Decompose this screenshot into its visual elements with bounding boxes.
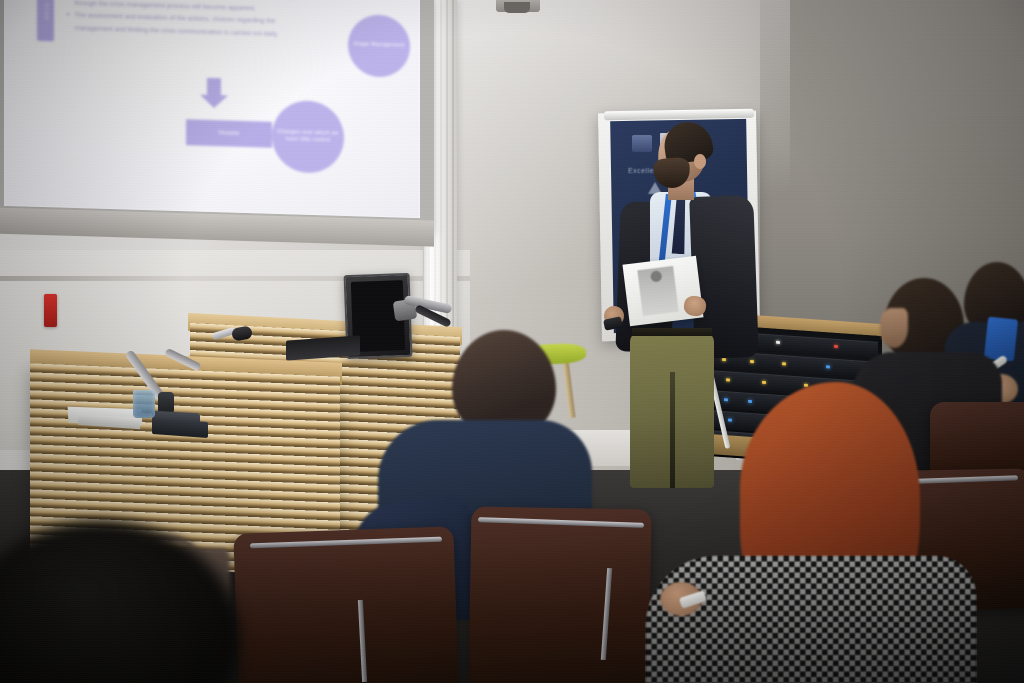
water-glass-icon [133,390,155,418]
projection-screen-surface: RISK • During this phase, the ability to… [4,0,420,218]
presenter-belt [632,328,712,336]
ceiling-spotlight-icon [496,0,540,12]
presenter-ear [694,154,706,169]
projected-slide: RISK • During this phase, the ability to… [4,0,420,218]
fire-alarm-icon [44,294,57,327]
presentation-room-photo: RISK • During this phase, the ability to… [0,0,1024,683]
handout-figure [637,266,678,316]
chair [233,526,458,683]
slide-bullet-text: management and limiting the crisis commu… [74,23,278,39]
projection-screen-frame: RISK • During this phase, the ability to… [0,0,434,233]
attendee-face [880,308,908,348]
bullet-dot-icon: • [67,11,69,21]
attendee-lanyard [984,317,1018,362]
slide-side-tab-label: RISK [43,3,49,21]
slide-box-disaster: Disaster [186,119,272,148]
slide-bullet-list: • During this phase, the ability to ensu… [67,0,357,44]
slide-side-tab: RISK [37,0,54,41]
slide-circle-image-management: Image Management [348,14,410,78]
chair [468,506,651,683]
presenter-leg-seam [670,372,675,488]
attendee-jacket-shading [646,556,976,683]
slide-circle-changes: Changes over which we have little contro… [272,100,344,174]
presenter [588,120,768,480]
